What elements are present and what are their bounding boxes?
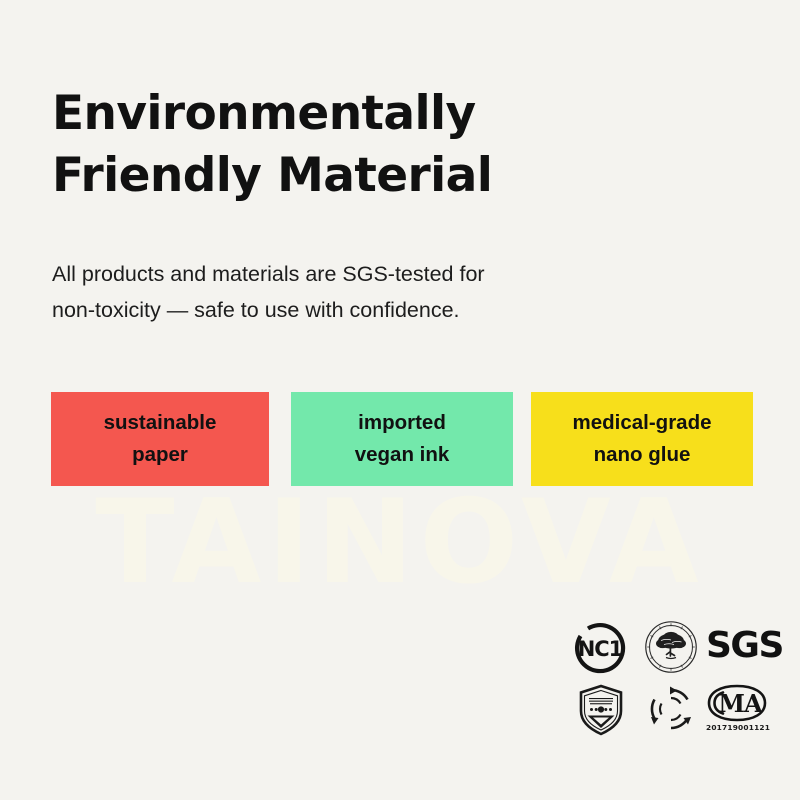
chip-medical-grade-nano-glue-label: medical-grade nano glue	[512, 407, 772, 471]
poster-canvas: TAINOVA Environmentally Friendly Materia…	[0, 0, 800, 800]
certification-badge-group: NC1	[572, 618, 772, 746]
chip-sustainable-paper-label: sustainable paper	[30, 407, 290, 471]
page-title-line-1: Environmentally	[52, 83, 752, 145]
page-subtitle-line-1: All products and materials are SGS-teste…	[52, 256, 692, 292]
chip-imported-vegan-ink: imported vegan ink	[291, 392, 513, 486]
material-chip-group: sustainable paper imported vegan ink med…	[51, 392, 761, 488]
recycle-arrows-icon	[646, 684, 696, 734]
nc1-circle-icon: NC1	[574, 622, 626, 674]
chip-medical-grade-nano-glue: medical-grade nano glue	[531, 392, 753, 486]
sgs-logo-icon: SGS	[706, 628, 783, 664]
forest-seal-tree-icon	[644, 620, 698, 674]
chip-label-line-2: nano glue	[512, 439, 772, 471]
page-title: Environmentally Friendly Material	[52, 83, 752, 207]
cma-certificate-number: 201719001121	[706, 723, 770, 732]
page-title-line-2: Friendly Material	[52, 145, 752, 207]
cma-mark-icon: MA 201719001121	[706, 684, 770, 732]
page-subtitle: All products and materials are SGS-teste…	[52, 256, 692, 328]
chip-label-line-1: medical-grade	[512, 407, 772, 439]
chip-label-line-1: sustainable	[30, 407, 290, 439]
sgs-logo-text: SGS	[706, 628, 783, 664]
brand-watermark: TAINOVA	[0, 478, 800, 608]
shield-chevron-icon	[578, 684, 624, 736]
page-subtitle-line-2: non-toxicity — safe to use with confiden…	[52, 292, 692, 328]
chip-imported-vegan-ink-label: imported vegan ink	[272, 407, 532, 471]
chip-sustainable-paper: sustainable paper	[51, 392, 269, 486]
chip-label-line-2: paper	[30, 439, 290, 471]
svg-text:MA: MA	[718, 689, 763, 718]
chip-label-line-1: imported	[272, 407, 532, 439]
chip-label-line-2: vegan ink	[272, 439, 532, 471]
svg-text:NC1: NC1	[578, 637, 623, 661]
